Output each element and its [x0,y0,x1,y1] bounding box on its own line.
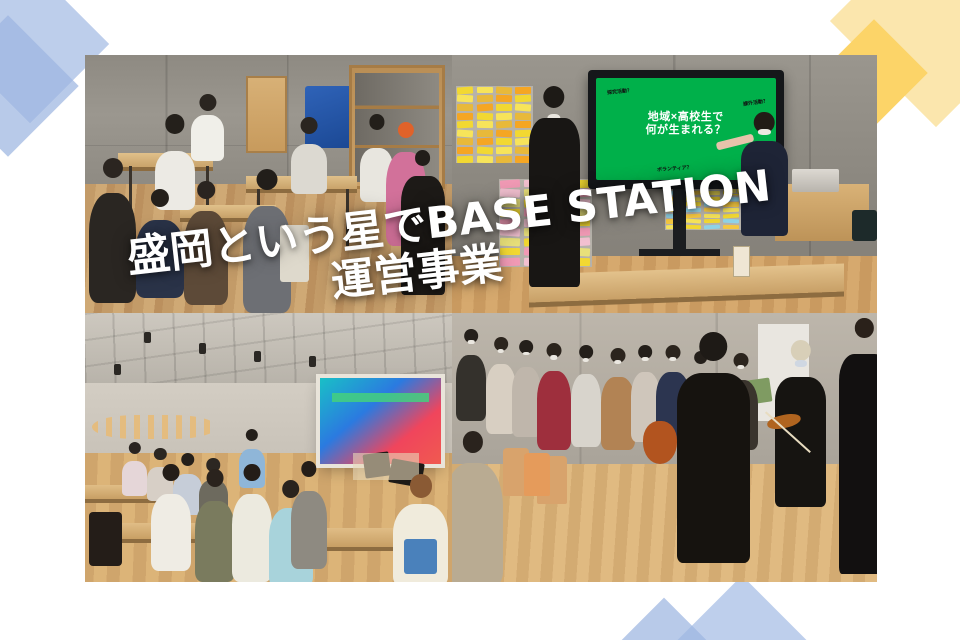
person-head [543,86,564,108]
person-audience [537,343,571,451]
person-body [195,501,235,582]
person-head [128,442,140,454]
photo-concert [452,313,877,582]
face-mask [468,340,475,344]
person-body [291,491,328,568]
person-head [151,189,169,207]
person-audience-foreground [452,431,503,582]
person-head [165,114,184,133]
person-head [700,332,727,361]
person-head [199,94,216,111]
person-body [232,494,272,582]
spotlight [254,351,261,362]
person [401,150,445,294]
display-stand [673,189,686,251]
person-presenter-right [741,112,788,236]
person-head [256,169,277,190]
person [151,464,191,572]
person [291,461,328,569]
face-mask [583,358,590,362]
spotlight [199,343,206,354]
face-mask [523,352,530,356]
slide-main-line1: 地域×高校生で [610,111,761,124]
person [184,181,228,305]
person-body [537,371,571,451]
person-audience [571,345,601,447]
face-mask [758,129,770,135]
person [291,117,328,194]
slide-main-line2: 何が生まれる？ [610,124,761,137]
standing-card [733,246,750,277]
face-mask [642,357,649,361]
person-head [369,114,384,129]
person-presenter-left [529,86,580,287]
stool [524,453,550,496]
person [122,442,148,496]
slide-tag-top-left: 探究活動？ [606,86,632,96]
person-body [839,354,877,574]
person [195,469,235,582]
person-audience [456,329,486,420]
person-body [677,373,749,563]
person-body [191,115,224,161]
photo-presentation: 探究活動？ 課外活動？ 地域×高校生で 何が生まれる？ ボランティア？ [452,55,877,313]
plywood-panel [246,76,286,153]
cello-body [643,421,677,464]
slide-main-text: 地域×高校生で 何が生まれる？ [610,111,761,137]
person [191,94,224,161]
tote-bag [280,225,309,282]
photo-collage: 探究活動？ 課外活動？ 地域×高校生で 何が生まれる？ ボランティア？ [85,55,877,582]
spotlight [114,364,121,375]
person-head [197,181,215,199]
person-body [456,355,486,421]
slide-tag-bottom: ボランティア？ [657,163,692,172]
slide-canvas: 探究活動？ 課外活動？ 地域×高校生で 何が生まれる？ ボランティア？ [0,0,960,640]
face-mask [498,349,505,353]
table-leg [346,189,349,246]
person-head [415,150,431,166]
person-head [463,431,483,452]
person-head [790,340,810,361]
wall-garland [92,415,217,439]
face-mask [614,360,621,364]
person [89,512,122,566]
person-head [398,122,414,138]
person-body [89,193,137,303]
person-head [244,464,261,482]
person-head [855,318,873,337]
person-body [571,374,601,448]
person-cellist [677,332,749,563]
person-body [452,463,503,582]
spotlight [144,332,151,343]
sticky-note-board [456,86,533,163]
person-head [410,474,432,497]
person [232,464,272,582]
person-head [163,464,180,482]
display-base [639,249,720,257]
spotlight [309,356,316,367]
person [136,189,184,297]
photo-seminar [85,313,452,582]
face-mask [550,355,557,359]
person-musician-right [839,318,877,574]
person-body [151,494,191,571]
face-mask [794,360,806,367]
person-head [301,461,316,477]
person-head [246,429,258,441]
tshirt-logo [404,539,437,574]
person-head [300,117,317,134]
laptop [792,169,839,192]
person-head [102,158,122,178]
person-head [154,448,166,460]
slide-tag-top-right: 課外活動？ [743,97,769,107]
person-head [207,469,224,487]
person-body [291,144,328,194]
person-body [136,220,184,298]
person-body [741,141,788,235]
projector-screen [320,378,441,464]
photo-workshop [85,55,452,313]
person-body [122,461,148,495]
person [89,158,137,302]
speaker [852,210,878,241]
person-body [529,118,580,287]
person-body [401,176,445,294]
face-mask [669,357,676,361]
person-body [184,211,228,305]
